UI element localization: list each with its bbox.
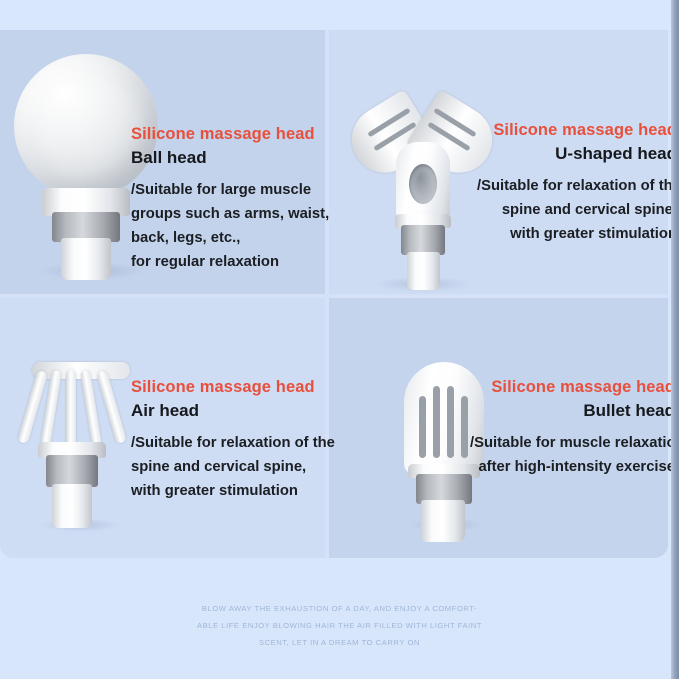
- air-head-kicker: Silicone massage head: [131, 378, 331, 396]
- air-head-image: [18, 360, 148, 535]
- caption-line: ABLE LIFE ENJOY BLOWING HAIR THE AIR FIL…: [0, 617, 679, 634]
- air-head-stem: [52, 484, 92, 528]
- desc-line: /Suitable for muscle relaxation: [470, 432, 675, 456]
- u-shaped-head-title: U-shaped head: [477, 143, 677, 164]
- top-strip: [0, 0, 671, 30]
- bullet-head-text-block: Silicone massage head Bullet head /Suita…: [470, 378, 675, 480]
- ball-head-text-block: Silicone massage head Ball head /Suitabl…: [131, 125, 331, 275]
- bullet-head-kicker: Silicone massage head: [470, 378, 675, 396]
- u-head-center-hole: [409, 164, 437, 204]
- u-shaped-head-description: /Suitable for relaxation of the spine an…: [477, 175, 677, 247]
- desc-line: with greater stimulation: [477, 223, 677, 247]
- desc-line: groups such as arms, waist,: [131, 203, 331, 227]
- desc-line: /Suitable for relaxation of the: [131, 432, 331, 456]
- desc-line: for regular relaxation: [131, 251, 331, 275]
- caption-line: SCENT, LET IN A DREAM TO CARRY ON: [0, 634, 679, 651]
- horizontal-divider: [0, 294, 668, 298]
- product-feature-image: Silicone massage head Ball head /Suitabl…: [0, 0, 679, 679]
- air-head-description: /Suitable for relaxation of the spine an…: [131, 432, 331, 504]
- u-shaped-head-kicker: Silicone massage head: [477, 121, 677, 139]
- air-head-gray-ring: [46, 455, 98, 487]
- ball-head-kicker: Silicone massage head: [131, 125, 331, 143]
- desc-line: with greater stimulation: [131, 480, 331, 504]
- desc-line: /Suitable for large muscle: [131, 179, 331, 203]
- desc-line: after high-intensity exercise: [470, 456, 675, 480]
- u-shaped-head-text-block: Silicone massage head U-shaped head /Sui…: [477, 121, 677, 247]
- air-head-text-block: Silicone massage head Air head /Suitable…: [131, 378, 331, 504]
- bullet-head-description: /Suitable for muscle relaxation after hi…: [470, 432, 675, 480]
- desc-line: back, legs, etc.,: [131, 227, 331, 251]
- air-head-title: Air head: [131, 400, 331, 421]
- right-edge-shade: [671, 0, 679, 679]
- u-head-stem: [407, 252, 440, 290]
- ball-head-stem: [61, 238, 111, 280]
- ball-head-title: Ball head: [131, 147, 331, 168]
- desc-line: spine and cervical spine,: [131, 456, 331, 480]
- ball-head-description: /Suitable for large muscle groups such a…: [131, 179, 331, 275]
- bullet-head-title: Bullet head: [470, 400, 675, 421]
- bullet-head-stem: [421, 500, 465, 542]
- desc-line: spine and cervical spine,: [477, 199, 677, 223]
- footer-caption: BLOW AWAY THE EXHAUSTION OF A DAY, AND E…: [0, 600, 679, 651]
- caption-line: BLOW AWAY THE EXHAUSTION OF A DAY, AND E…: [0, 600, 679, 617]
- u-head-gray-ring: [401, 225, 445, 255]
- desc-line: /Suitable for relaxation of the: [477, 175, 677, 199]
